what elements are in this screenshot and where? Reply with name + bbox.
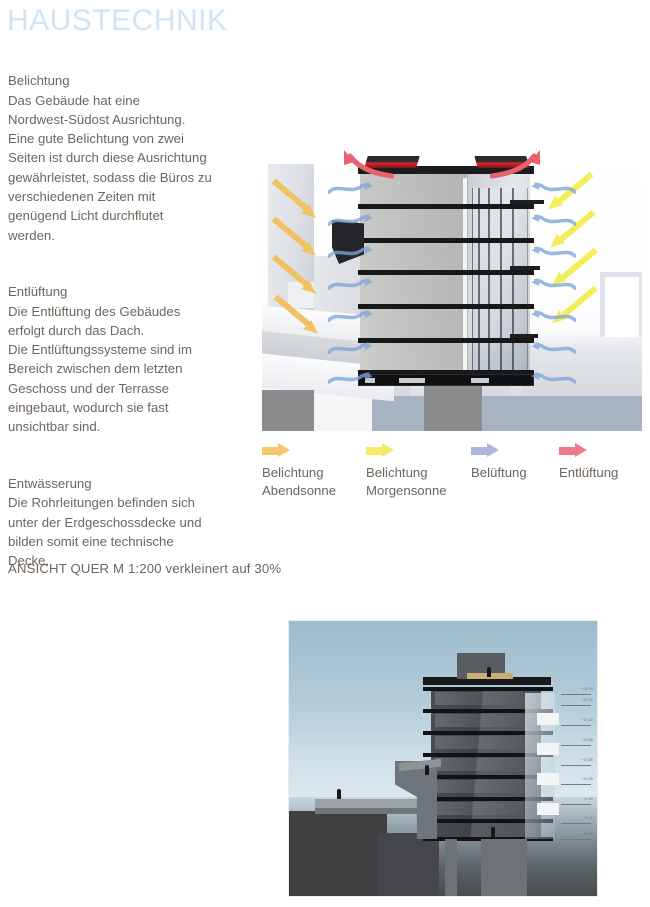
text-body-entlueftung: Die Entlüftung des Gebäudes erfolgt durc…	[8, 304, 192, 435]
level-mark	[561, 725, 591, 726]
level-label: +16,88	[581, 738, 593, 742]
pedestrian-deck	[315, 799, 423, 808]
legend-label-belichtung-morgensonne: Belichtung Morgensonne	[366, 464, 447, 500]
legend-arrow-icon-morning-sun	[366, 443, 396, 458]
ventilation-wave	[328, 342, 374, 356]
pedestrian-deck-shadow	[315, 808, 423, 814]
balcony-edge	[510, 200, 544, 204]
interior-bay	[435, 758, 523, 771]
ventilation-wave	[530, 372, 576, 386]
ground-floor-technical-ceiling	[358, 374, 534, 386]
ventilation-wave	[530, 310, 576, 324]
mullion	[500, 188, 502, 378]
level-label: +6,80	[583, 797, 593, 801]
text-heading-belichtung: Belichtung	[8, 71, 256, 90]
foreground-embankment-left	[289, 811, 387, 897]
ventilation-wave	[328, 372, 374, 386]
ventilation-wave	[328, 246, 374, 260]
interior-bay	[435, 692, 523, 705]
legend-arrow-icon-ventilation	[471, 443, 501, 458]
person-silhouette	[487, 667, 491, 677]
person-silhouette	[337, 789, 341, 799]
ventilation-wave	[328, 310, 374, 324]
legend-arrow-icon-exhaust	[559, 443, 589, 458]
building-pier-left	[270, 390, 292, 431]
level-label: +24,00	[581, 687, 593, 691]
level-label: +10,85	[581, 777, 593, 781]
ventilation-wave	[530, 182, 576, 196]
legend-label-belueftung: Belüftung	[471, 464, 527, 482]
ventilation-wave	[530, 246, 576, 260]
ventilation-wave	[328, 278, 374, 292]
interior-bay	[435, 780, 523, 793]
building-section	[360, 158, 530, 386]
context-gate-frame	[600, 272, 642, 337]
ventilation-wave	[328, 182, 374, 196]
level-mark	[561, 784, 591, 785]
legend-item-entlueftung: Entlüftung	[559, 443, 618, 482]
level-label: +19,88	[581, 718, 593, 722]
level-mark	[561, 705, 591, 706]
interior-bay	[435, 736, 523, 749]
legend-item-belichtung-abendsonne: Belichtung Abendsonne	[262, 443, 336, 500]
legend-item-belueftung: Belüftung	[471, 443, 527, 482]
person-silhouette	[491, 827, 495, 837]
ventilation-wave	[530, 214, 576, 228]
legend-label-entlueftung: Entlüftung	[559, 464, 618, 482]
diagram-legend: Belichtung Abendsonne Belichtung Morgens…	[262, 443, 650, 499]
text-block-entlueftung: EntlüftungDie Entlüftung des Gebäudes er…	[8, 263, 256, 437]
interior-bay	[435, 714, 523, 727]
foreground-embankment-mid	[377, 833, 439, 897]
level-label: +3,01	[583, 816, 593, 820]
white-bay	[537, 803, 559, 815]
building-section-diagram	[262, 146, 642, 431]
floor-slab	[358, 338, 534, 343]
floor-slab	[358, 204, 534, 209]
exhaust-arrow-left	[338, 148, 390, 182]
legend-label-belichtung-abendsonne: Belichtung Abendsonne	[262, 464, 336, 500]
level-label: +20,02	[581, 698, 593, 702]
level-mark	[561, 839, 591, 840]
floor-slab	[358, 304, 534, 309]
floor-slab	[358, 270, 534, 275]
balcony-edge	[510, 334, 538, 338]
structural-pier	[481, 839, 527, 897]
level-mark	[561, 745, 591, 746]
ventilation-wave	[530, 342, 576, 356]
level-mark	[561, 765, 591, 766]
text-heading-entlueftung: Entlüftung	[8, 282, 256, 301]
ventilation-wave	[530, 278, 576, 292]
level-mark	[561, 823, 591, 824]
white-bay	[537, 743, 559, 755]
structural-pier	[445, 839, 457, 897]
section-caption: ANSICHT QUER M 1:200 verkleinert auf 30%	[8, 559, 281, 578]
mullion	[478, 188, 480, 378]
text-heading-entwaesserung: Entwässerung	[8, 474, 256, 493]
building-pier-center	[424, 382, 482, 431]
legend-item-belichtung-morgensonne: Belichtung Morgensonne	[366, 443, 447, 500]
text-body-belichtung: Das Gebäude hat eine Nordwest-Südost Aus…	[8, 93, 212, 243]
water-band	[372, 396, 642, 431]
exhaust-arrow-right	[490, 148, 542, 182]
legend-arrow-icon-evening-sun	[262, 443, 292, 458]
floor-slab	[358, 238, 534, 243]
text-block-entwaesserung: EntwässerungDie Rohrleitungen befinden s…	[8, 455, 256, 571]
balcony-edge	[510, 266, 540, 270]
ventilation-wave	[328, 214, 374, 228]
cross-section-elevation-image: +24,00 +20,02 +19,88 +16,88 +13,88 +10,8…	[288, 620, 598, 897]
white-bay	[537, 713, 559, 725]
text-body-entwaesserung: Die Rohrleitungen befinden sich unter de…	[8, 495, 202, 568]
mullion	[512, 188, 514, 378]
description-text-column: BelichtungDas Gebäude hat eine Nordwest-…	[8, 52, 256, 588]
level-mark	[561, 694, 591, 695]
page-title: HAUSTECHNIK	[7, 4, 228, 38]
level-mark	[561, 804, 591, 805]
person-silhouette	[425, 765, 429, 775]
mullion	[488, 188, 490, 378]
level-label: +0,20	[583, 832, 593, 836]
text-block-belichtung: BelichtungDas Gebäude hat eine Nordwest-…	[8, 52, 256, 245]
white-bay	[537, 773, 559, 785]
floor-line	[423, 687, 553, 691]
level-label: +13,88	[581, 758, 593, 762]
interior-bay	[435, 802, 523, 815]
